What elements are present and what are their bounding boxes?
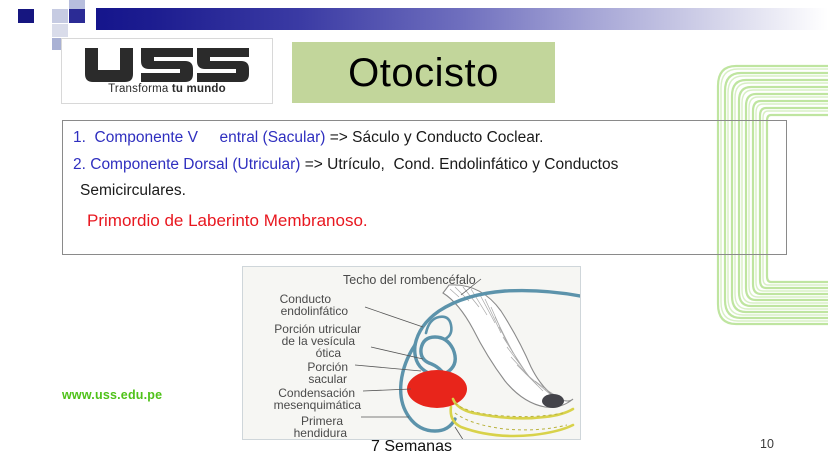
ganglion-oval <box>542 394 564 408</box>
mosaic-square-white-3 <box>69 24 85 37</box>
uss-logo-tagline: Transforma tu mundo <box>108 83 226 95</box>
uss-wordmark-icon <box>83 48 251 82</box>
mosaic-square-lightblue-1 <box>52 9 68 23</box>
mosaic-square-pale-1 <box>52 24 68 37</box>
content-text-box: 1. Componente V entral (Sacular) => Sácu… <box>62 120 787 255</box>
header-gradient-band <box>96 8 828 30</box>
uss-tagline-light: Transforma <box>108 83 172 95</box>
item1-blue-text: Componente V entral (Sacular) <box>86 129 326 146</box>
mosaic-square-navy <box>18 9 34 23</box>
mosaic-square-white-2 <box>35 24 51 37</box>
slide-canvas: Transforma tu mundo Otocisto <box>0 0 828 466</box>
item2-wrap-line: Semicirculares. <box>80 183 776 199</box>
figure-label: mesenquimática <box>274 398 362 412</box>
mesenchymal-condensation <box>407 370 467 408</box>
page-title: Otocisto <box>348 53 499 93</box>
page-number: 10 <box>760 437 774 451</box>
slide-title-banner: Otocisto <box>292 42 555 103</box>
figure-label: sacular <box>308 372 347 386</box>
highlight-text: Primordio de Laberinto Membranoso. <box>87 212 776 229</box>
uss-logo: Transforma tu mundo <box>61 38 273 104</box>
embryology-figure: Techo del rombencéfalo Conducto endolinf… <box>242 266 581 440</box>
site-url-text: www.uss.edu.pe <box>62 388 162 402</box>
item1-number: 1. <box>73 129 86 146</box>
mosaic-square-blue <box>69 9 85 23</box>
figure-caption: 7 Semanas <box>242 438 581 456</box>
figure-label: Techo del rombencéfalo <box>343 273 476 287</box>
otic-vesicle-diagram-icon: Techo del rombencéfalo Conducto endolinf… <box>243 267 580 439</box>
item1-black-text: => Sáculo y Conducto Coclear. <box>325 129 543 146</box>
list-item: 2. Componente Dorsal (Utricular) => Utrí… <box>73 157 776 173</box>
item2-black-text: => Utrículo, Cond. Endolinfático y Condu… <box>300 156 618 173</box>
figure-label: endolinfático <box>281 304 349 318</box>
list-item: 1. Componente V entral (Sacular) => Sácu… <box>73 130 776 146</box>
figure-label: ótica <box>316 346 342 360</box>
mosaic-square-lightblue-2 <box>69 0 85 9</box>
mosaic-square-white-1 <box>35 9 51 23</box>
item2-number: 2. <box>73 156 86 173</box>
item2-blue-text: Componente Dorsal (Utricular) <box>86 156 301 173</box>
uss-tagline-bold: tu mundo <box>172 83 226 95</box>
